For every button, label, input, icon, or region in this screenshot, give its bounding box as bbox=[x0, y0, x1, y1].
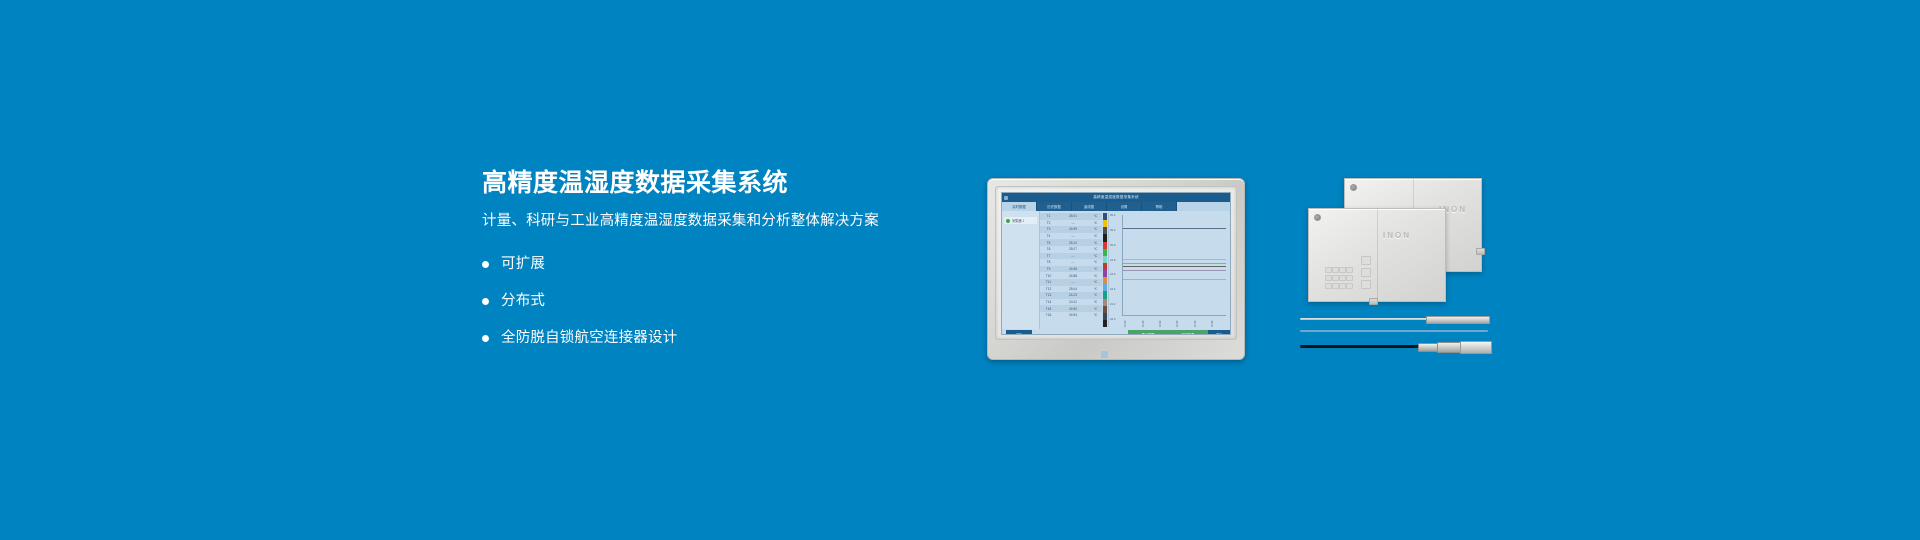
key[interactable] bbox=[1325, 267, 1332, 273]
cell-value: 24.11 bbox=[1057, 300, 1089, 304]
table-row[interactable]: T324.99℃ bbox=[1040, 226, 1102, 233]
cell-channel: T11 bbox=[1040, 280, 1057, 284]
key[interactable] bbox=[1346, 275, 1353, 281]
table-row[interactable]: T1624.94℃ bbox=[1040, 312, 1102, 319]
legend-color-swatch bbox=[1103, 284, 1107, 291]
legend-color-swatch bbox=[1103, 249, 1107, 256]
cell-channel: T14 bbox=[1040, 300, 1057, 304]
connector-port bbox=[1476, 248, 1485, 255]
chart-series-line bbox=[1123, 263, 1226, 264]
module-front: INON bbox=[1308, 208, 1446, 302]
table-row[interactable]: T1324.23℃ bbox=[1040, 292, 1102, 299]
cell-channel: T15 bbox=[1040, 307, 1057, 311]
key[interactable] bbox=[1332, 275, 1339, 281]
cell-unit: ℃ bbox=[1089, 267, 1102, 271]
legend-color-swatch bbox=[1103, 263, 1107, 270]
cell-unit: ℃ bbox=[1089, 247, 1102, 251]
chart-series-line bbox=[1123, 259, 1226, 260]
software-footer-toolbar: 开始 导出数据 打印报表 退出 bbox=[1002, 329, 1230, 335]
tab-realtime[interactable]: 实时数据 bbox=[1002, 202, 1037, 211]
cell-unit: ℃ bbox=[1089, 307, 1102, 311]
chart-x-axis: 10:2010:2510:3010:3510:4010:45 bbox=[1122, 317, 1226, 327]
table-row[interactable]: T1225.04℃ bbox=[1040, 286, 1102, 293]
software-tab-bar: 实时数据 历史数据 曲线图 设置 帮助 bbox=[1002, 202, 1230, 211]
cell-value: --- bbox=[1057, 260, 1089, 264]
exit-button[interactable]: 退出 bbox=[1208, 330, 1230, 335]
cell-unit: ℃ bbox=[1089, 241, 1102, 245]
probe-shaft bbox=[1300, 318, 1436, 320]
cell-channel: T7 bbox=[1040, 254, 1057, 258]
connector-port bbox=[1369, 298, 1378, 305]
bullet-dot-icon bbox=[482, 261, 489, 268]
key[interactable] bbox=[1325, 275, 1332, 281]
chart-x-tick-label: 10:35 bbox=[1176, 321, 1179, 328]
channel-color-legend bbox=[1103, 213, 1107, 327]
chart-y-tick-label: 25.2 bbox=[1110, 228, 1115, 232]
legend-color-swatch bbox=[1103, 299, 1107, 306]
chart-y-tick-label: 24.4 bbox=[1110, 287, 1115, 291]
table-row[interactable]: T525.12℃ bbox=[1040, 239, 1102, 246]
table-row[interactable]: T2---℃ bbox=[1040, 220, 1102, 227]
table-row[interactable]: T625.07℃ bbox=[1040, 246, 1102, 253]
legend-color-swatch bbox=[1103, 306, 1107, 313]
cell-value: 24.88 bbox=[1057, 274, 1089, 278]
cell-unit: ℃ bbox=[1089, 260, 1102, 264]
feature-list: 可扩展 分布式 全防脱自锁航空连接器设计 bbox=[482, 249, 942, 353]
cell-channel: T13 bbox=[1040, 293, 1057, 297]
legend-color-swatch bbox=[1103, 256, 1107, 263]
chart-y-tick-label: 24.8 bbox=[1110, 258, 1115, 262]
device-tree-sidebar: 采集器 1 bbox=[1002, 211, 1040, 329]
table-row[interactable]: T8---℃ bbox=[1040, 259, 1102, 266]
legend-color-swatch bbox=[1103, 234, 1107, 241]
legend-color-swatch bbox=[1103, 277, 1107, 284]
key[interactable] bbox=[1339, 283, 1346, 289]
key[interactable] bbox=[1346, 283, 1353, 289]
cell-channel: T12 bbox=[1040, 287, 1057, 291]
display-row bbox=[1361, 280, 1371, 289]
cell-unit: ℃ bbox=[1089, 287, 1102, 291]
cell-channel: T2 bbox=[1040, 221, 1057, 225]
software-body: 采集器 1 T125.01℃T2---℃T324.99℃T4---℃T525.1… bbox=[1002, 211, 1230, 329]
key[interactable] bbox=[1346, 267, 1353, 273]
cell-unit: ℃ bbox=[1089, 214, 1102, 218]
chart-series-line bbox=[1123, 279, 1226, 280]
feature-label: 可扩展 bbox=[501, 256, 545, 272]
page-subtitle: 计量、科研与工业高精度温湿度数据采集和分析整体解决方案 bbox=[482, 211, 942, 231]
keypad bbox=[1325, 267, 1351, 289]
cell-value: --- bbox=[1057, 254, 1089, 258]
table-row[interactable]: T1424.11℃ bbox=[1040, 299, 1102, 306]
tab-chart[interactable]: 曲线图 bbox=[1072, 202, 1107, 211]
channel-value-table: T125.01℃T2---℃T324.99℃T4---℃T525.12℃T625… bbox=[1040, 211, 1102, 329]
cell-value: 24.23 bbox=[1057, 293, 1089, 297]
cell-channel: T16 bbox=[1040, 313, 1057, 317]
chart-y-tick-label: 24.6 bbox=[1110, 272, 1115, 276]
list-item: 全防脱自锁航空连接器设计 bbox=[482, 323, 942, 353]
key[interactable] bbox=[1332, 283, 1339, 289]
probe-accessories bbox=[1300, 316, 1490, 360]
key[interactable] bbox=[1332, 267, 1339, 273]
legend-color-swatch bbox=[1103, 291, 1107, 298]
cell-value: 25.01 bbox=[1057, 214, 1089, 218]
cell-unit: ℃ bbox=[1089, 274, 1102, 278]
device-tree-label: 采集器 1 bbox=[1012, 218, 1024, 223]
app-logo-icon bbox=[1004, 196, 1008, 200]
cell-unit: ℃ bbox=[1089, 293, 1102, 297]
table-row[interactable]: T125.01℃ bbox=[1040, 213, 1102, 220]
hero-copy: 高精度温湿度数据采集系统 计量、科研与工业高精度温湿度数据采集和分析整体解决方案… bbox=[482, 168, 942, 360]
cell-unit: ℃ bbox=[1089, 300, 1102, 304]
bullet-dot-icon bbox=[482, 298, 489, 305]
legend-color-swatch bbox=[1103, 220, 1107, 227]
cell-channel: T6 bbox=[1040, 247, 1057, 251]
table-row[interactable]: T924.98℃ bbox=[1040, 266, 1102, 273]
list-item: 可扩展 bbox=[482, 249, 942, 279]
display-row bbox=[1361, 268, 1371, 277]
tab-history[interactable]: 历史数据 bbox=[1037, 202, 1072, 211]
table-row[interactable]: T1524.90℃ bbox=[1040, 305, 1102, 312]
chart-y-tick-label: 24.0 bbox=[1110, 317, 1115, 321]
monitor-stand-foot bbox=[1101, 351, 1108, 358]
probe-handle bbox=[1426, 316, 1490, 324]
cell-unit: ℃ bbox=[1089, 221, 1102, 225]
cell-channel: T1 bbox=[1040, 214, 1057, 218]
chart-y-tick-label: 25.0 bbox=[1110, 243, 1115, 247]
cell-channel: T8 bbox=[1040, 260, 1057, 264]
display-segments bbox=[1361, 256, 1371, 289]
cell-channel: T10 bbox=[1040, 274, 1057, 278]
cell-value: 24.98 bbox=[1057, 267, 1089, 271]
probe-cable bbox=[1300, 345, 1422, 348]
table-row[interactable]: T1024.88℃ bbox=[1040, 272, 1102, 279]
chart-x-tick-label: 10:20 bbox=[1124, 321, 1127, 328]
table-row[interactable]: T7---℃ bbox=[1040, 253, 1102, 260]
chart-x-tick-label: 10:25 bbox=[1142, 321, 1145, 328]
chart-series-line bbox=[1123, 270, 1226, 271]
bullet-dot-icon bbox=[482, 335, 489, 342]
cell-value: 24.90 bbox=[1057, 307, 1089, 311]
software-title-bar: 高精度温湿度数据采集系统 bbox=[1002, 193, 1230, 202]
cell-channel: T9 bbox=[1040, 267, 1057, 271]
chart-y-tick-label: 24.2 bbox=[1110, 302, 1115, 306]
cell-value: --- bbox=[1057, 280, 1089, 284]
panel-seam bbox=[1377, 209, 1378, 301]
list-item[interactable]: 采集器 1 bbox=[1004, 217, 1037, 224]
start-button[interactable]: 开始 bbox=[1006, 330, 1032, 335]
trend-chart: 25.425.225.024.824.624.424.224.0 10:2010… bbox=[1108, 213, 1228, 327]
feature-label: 分布式 bbox=[501, 293, 545, 309]
probe-head bbox=[1460, 341, 1492, 354]
legend-color-swatch bbox=[1103, 227, 1107, 234]
cell-value: 24.99 bbox=[1057, 227, 1089, 231]
screw-icon bbox=[1350, 184, 1357, 191]
cell-value: --- bbox=[1057, 234, 1089, 238]
feature-label: 全防脱自锁航空连接器设计 bbox=[501, 330, 677, 346]
hero-banner: 高精度温湿度数据采集系统 计量、科研与工业高精度温湿度数据采集和分析整体解决方案… bbox=[0, 0, 1920, 540]
status-online-icon bbox=[1006, 219, 1010, 223]
cell-unit: ℃ bbox=[1089, 227, 1102, 231]
export-data-button[interactable]: 导出数据 bbox=[1128, 330, 1168, 335]
sensor-wire bbox=[1300, 330, 1488, 332]
monitor-inner-frame: 高精度温湿度数据采集系统 实时数据 历史数据 曲线图 设置 帮助 采集器 1 bbox=[995, 186, 1237, 340]
tab-bar-filler bbox=[1177, 202, 1230, 211]
cell-unit: ℃ bbox=[1089, 313, 1102, 317]
tab-help[interactable]: 帮助 bbox=[1142, 202, 1177, 211]
cell-channel: T5 bbox=[1040, 241, 1057, 245]
list-item: 分布式 bbox=[482, 286, 942, 316]
chart-y-axis: 25.425.225.024.824.624.424.224.0 bbox=[1109, 213, 1121, 317]
page-title: 高精度温湿度数据采集系统 bbox=[482, 168, 942, 198]
monitor-screen: 高精度温湿度数据采集系统 实时数据 历史数据 曲线图 设置 帮助 采集器 1 bbox=[1001, 192, 1231, 335]
legend-color-swatch bbox=[1103, 213, 1107, 220]
screw-icon bbox=[1314, 214, 1321, 221]
cell-value: --- bbox=[1057, 221, 1089, 225]
legend-color-swatch bbox=[1103, 270, 1107, 277]
table-row[interactable]: T4---℃ bbox=[1040, 233, 1102, 240]
chart-x-tick-label: 10:45 bbox=[1211, 321, 1214, 328]
cell-unit: ℃ bbox=[1089, 234, 1102, 238]
key[interactable] bbox=[1339, 275, 1346, 281]
chart-series-line bbox=[1123, 228, 1226, 229]
chart-x-tick-label: 10:40 bbox=[1194, 321, 1197, 328]
legend-color-swatch bbox=[1103, 320, 1107, 327]
cell-value: 25.12 bbox=[1057, 241, 1089, 245]
cell-unit: ℃ bbox=[1089, 280, 1102, 284]
cell-unit: ℃ bbox=[1089, 254, 1102, 258]
table-row[interactable]: T11---℃ bbox=[1040, 279, 1102, 286]
cell-value: 25.07 bbox=[1057, 247, 1089, 251]
key[interactable] bbox=[1325, 283, 1332, 289]
cell-value: 24.94 bbox=[1057, 313, 1089, 317]
brand-logo: INON bbox=[1383, 231, 1411, 240]
panel-pc-device: 高精度温湿度数据采集系统 实时数据 历史数据 曲线图 设置 帮助 采集器 1 bbox=[987, 178, 1245, 360]
legend-color-swatch bbox=[1103, 242, 1107, 249]
cell-value: 25.04 bbox=[1057, 287, 1089, 291]
key[interactable] bbox=[1339, 267, 1346, 273]
chart-x-tick-label: 10:30 bbox=[1159, 321, 1162, 328]
print-report-button[interactable]: 打印报表 bbox=[1168, 330, 1208, 335]
legend-color-swatch bbox=[1103, 313, 1107, 320]
display-row bbox=[1361, 256, 1371, 265]
chart-series-line bbox=[1123, 266, 1226, 267]
chart-y-tick-label: 25.4 bbox=[1110, 213, 1115, 217]
software-window-title: 高精度温湿度数据采集系统 bbox=[1093, 195, 1139, 200]
chart-plot-area bbox=[1122, 215, 1226, 316]
cell-channel: T3 bbox=[1040, 227, 1057, 231]
cell-channel: T4 bbox=[1040, 234, 1057, 238]
tab-settings[interactable]: 设置 bbox=[1107, 202, 1142, 211]
